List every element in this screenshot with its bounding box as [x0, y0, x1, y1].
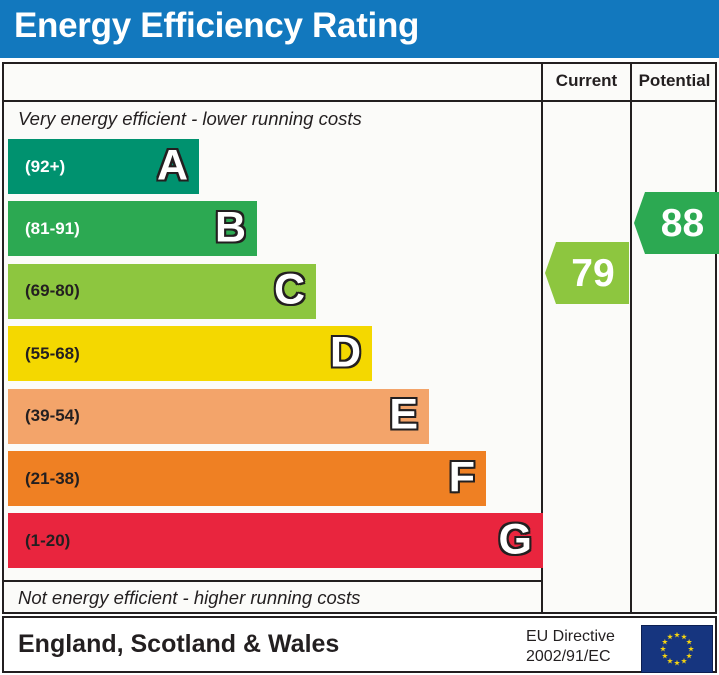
rating-arrow-potential: 88 — [634, 192, 719, 254]
bottom-caption-divider — [4, 580, 541, 582]
column-header-potential: Potential — [632, 71, 717, 91]
energy-band-e: (39-54)E — [8, 389, 429, 444]
column-divider-potential — [630, 64, 632, 612]
band-range-label: (1-20) — [25, 531, 70, 551]
band-letter-label: B — [215, 207, 246, 250]
band-letter-label: G — [499, 519, 532, 562]
caption-not-efficient: Not energy efficient - higher running co… — [18, 587, 360, 609]
rating-value-current: 79 — [571, 254, 614, 293]
band-range-label: (21-38) — [25, 469, 80, 489]
directive-line-1: EU Directive — [526, 628, 615, 645]
rating-arrow-current: 79 — [545, 242, 629, 304]
caption-very-efficient: Very energy efficient - lower running co… — [18, 108, 362, 130]
footer-bar: England, Scotland & Wales EU Directive 2… — [2, 616, 717, 673]
directive-line-2: 2002/91/EC — [526, 648, 611, 665]
band-range-label: (55-68) — [25, 344, 80, 364]
band-range-label: (39-54) — [25, 406, 80, 426]
page-title: Energy Efficiency Rating — [14, 6, 419, 46]
band-letter-label: A — [157, 144, 188, 187]
eu-flag-stars-icon — [642, 626, 712, 672]
band-range-label: (81-91) — [25, 219, 80, 239]
rating-table: Current Potential Very energy efficient … — [2, 62, 717, 614]
band-letter-label: D — [330, 331, 361, 374]
epc-certificate-chart: Energy Efficiency Rating Current Potenti… — [0, 0, 719, 675]
footer-region-label: England, Scotland & Wales — [18, 630, 339, 659]
column-header-current: Current — [543, 71, 630, 91]
energy-band-a: (92+)A — [8, 139, 199, 194]
energy-band-g: (1-20)G — [8, 513, 543, 568]
energy-band-b: (81-91)B — [8, 201, 257, 256]
energy-band-c: (69-80)C — [8, 264, 316, 319]
energy-band-list: (92+)A(81-91)B(69-80)C(55-68)D(39-54)E(2… — [6, 139, 541, 579]
energy-band-d: (55-68)D — [8, 326, 372, 381]
band-range-label: (92+) — [25, 157, 65, 177]
band-range-label: (69-80) — [25, 281, 80, 301]
band-letter-label: F — [449, 456, 475, 499]
title-banner: Energy Efficiency Rating — [0, 0, 719, 58]
energy-band-f: (21-38)F — [8, 451, 486, 506]
rating-value-potential: 88 — [661, 204, 704, 243]
footer-directive-label: EU Directive 2002/91/EC — [526, 627, 615, 668]
eu-flag-icon — [641, 625, 713, 673]
band-letter-label: E — [389, 394, 418, 437]
band-letter-label: C — [274, 269, 305, 312]
header-row-divider — [4, 100, 715, 102]
